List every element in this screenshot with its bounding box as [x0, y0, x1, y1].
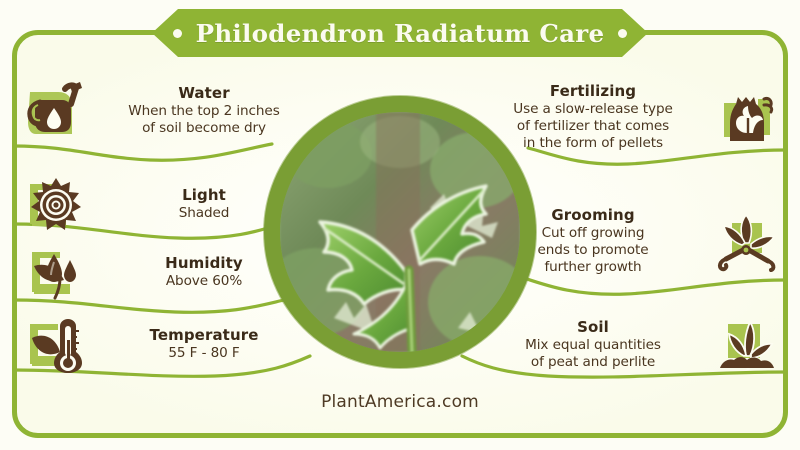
info-description: Shaded: [94, 205, 314, 222]
info-heading: Water: [94, 84, 314, 102]
info-description: Above 60%: [94, 273, 314, 290]
info-description: Use a slow-release type of fertilizer th…: [478, 101, 708, 152]
info-row-water: Water When the top 2 inches of soil beco…: [24, 78, 314, 142]
infographic-root: Philodendron Radiatum Care: [0, 0, 800, 450]
info-heading: Fertilizing: [478, 82, 708, 100]
info-row-temperature: Temperature 55 F - 80 F: [24, 312, 314, 376]
info-heading: Soil: [478, 318, 708, 336]
watering-can-icon: [24, 78, 88, 142]
info-description: 55 F - 80 F: [94, 345, 314, 362]
pruning-shears-icon: [714, 209, 778, 273]
info-row-grooming: Grooming Cut off growing ends to promote…: [478, 206, 778, 276]
footer-website[interactable]: PlantAmerica.com: [0, 392, 800, 412]
info-description: When the top 2 inches of soil become dry: [94, 103, 314, 137]
info-heading: Temperature: [94, 326, 314, 344]
title-banner: Philodendron Radiatum Care: [152, 9, 648, 57]
banner-dot-left-icon: [173, 29, 182, 38]
info-description: Cut off growing ends to promote further …: [478, 225, 708, 276]
info-row-fertilizing: Fertilizing Use a slow-release type of f…: [478, 82, 778, 152]
info-description: Mix equal quantities of peat and perlite: [478, 337, 708, 371]
leaf-droplets-icon: [24, 240, 88, 304]
fertilizer-sack-icon: [714, 85, 778, 149]
info-row-soil: Soil Mix equal quantities of peat and pe…: [478, 312, 778, 376]
page-title: Philodendron Radiatum Care: [196, 19, 605, 48]
info-row-light: Light Shaded: [24, 172, 314, 236]
info-heading: Grooming: [478, 206, 708, 224]
sun-icon: [24, 172, 88, 236]
info-heading: Humidity: [94, 254, 314, 272]
banner-dot-right-icon: [618, 29, 627, 38]
seedling-soil-icon: [714, 312, 778, 376]
info-row-humidity: Humidity Above 60%: [24, 240, 314, 304]
thermometer-leaf-icon: [24, 312, 88, 376]
info-heading: Light: [94, 186, 314, 204]
